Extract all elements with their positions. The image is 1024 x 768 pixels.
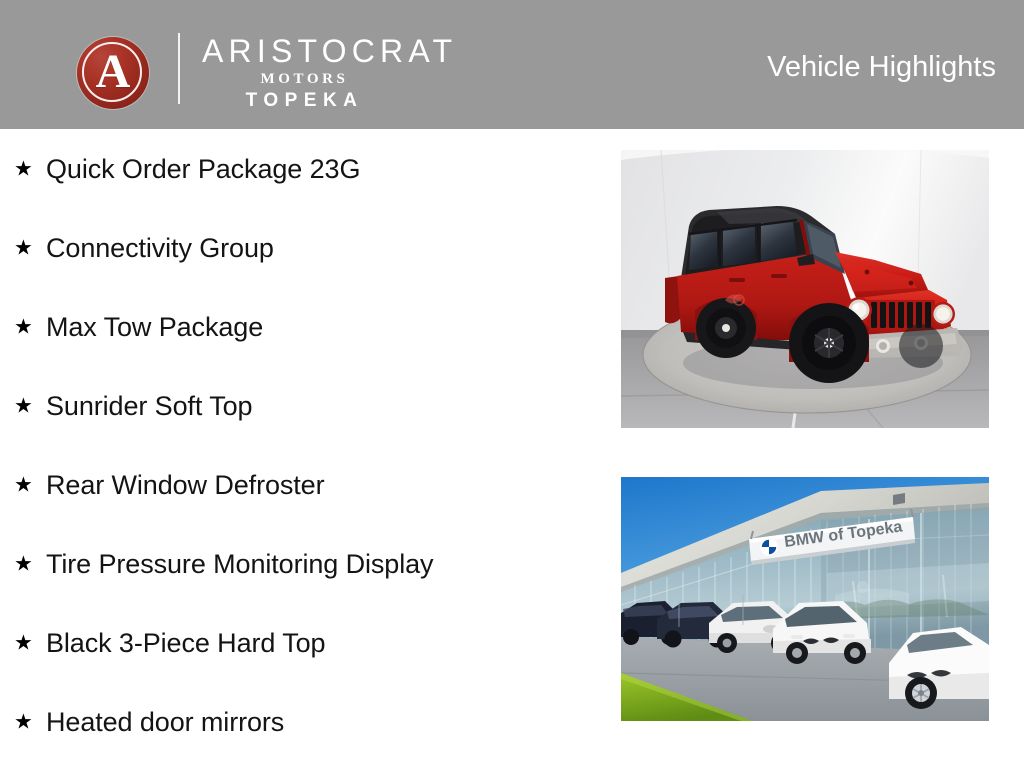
aristocrat-medallion-icon: A (77, 37, 149, 109)
list-item: ★ Tire Pressure Monitoring Display (0, 524, 600, 603)
list-item-label: Rear Window Defroster (46, 469, 325, 501)
list-item: ★ Quick Order Package 23G (0, 129, 600, 208)
list-item-label: Connectivity Group (46, 232, 274, 264)
star-bullet-icon: ★ (14, 474, 33, 495)
dealership-photo-graphic: BMW of Topeka (621, 477, 989, 721)
star-bullet-icon: ★ (14, 395, 33, 416)
star-bullet-icon: ★ (14, 711, 33, 732)
list-item-label: Heated door mirrors (46, 706, 284, 738)
list-item: ★ Black 3-Piece Hard Top (0, 603, 600, 682)
list-item: ★ Connectivity Group (0, 208, 600, 287)
list-item: ★ Sunrider Soft Top (0, 366, 600, 445)
list-item: ★ Heated door mirrors (0, 682, 600, 761)
star-bullet-icon: ★ (14, 158, 33, 179)
list-item-label: Black 3-Piece Hard Top (46, 627, 325, 659)
list-item: ★ Rear Window Defroster (0, 445, 600, 524)
star-bullet-icon: ★ (14, 237, 33, 258)
logo-letter: A (77, 37, 149, 109)
list-item-label: Tire Pressure Monitoring Display (46, 548, 433, 580)
list-item: ★ Max Tow Package (0, 287, 600, 366)
brand-divider (178, 33, 180, 104)
dealership-photo[interactable]: BMW of Topeka (621, 477, 989, 721)
vehicle-highlights-slide: A ARISTOCRAT MOTORS TOPEKA Vehicle Highl… (0, 0, 1024, 768)
brand-name-secondary: MOTORS (202, 70, 407, 89)
list-item-label: Sunrider Soft Top (46, 390, 252, 422)
vehicle-highlights-list: ★ Quick Order Package 23G ★ Connectivity… (0, 129, 600, 761)
star-bullet-icon: ★ (14, 632, 33, 653)
header-bar: A ARISTOCRAT MOTORS TOPEKA Vehicle Highl… (0, 0, 1024, 129)
list-item-label: Quick Order Package 23G (46, 153, 360, 185)
list-item-label: Max Tow Package (46, 311, 263, 343)
star-bullet-icon: ★ (14, 316, 33, 337)
page-title: Vehicle Highlights (767, 50, 996, 84)
vehicle-photo[interactable] (621, 150, 989, 428)
brand-name-primary: ARISTOCRAT (202, 33, 482, 69)
star-bullet-icon: ★ (14, 553, 33, 574)
brand-name-tertiary: TOPEKA (202, 90, 407, 112)
brand-wordmark: ARISTOCRAT MOTORS TOPEKA (202, 33, 482, 109)
vehicle-photo-graphic (621, 150, 989, 428)
